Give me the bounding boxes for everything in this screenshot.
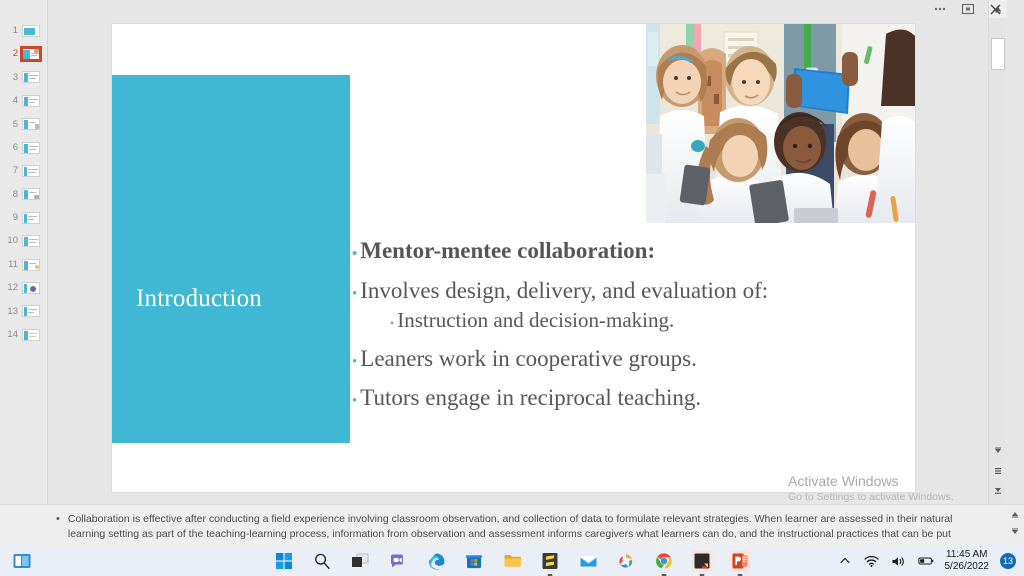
- watermark-subtitle: Go to Settings to activate Windows.: [788, 491, 988, 503]
- wifi-icon: [864, 554, 879, 568]
- scrollbar-thumb[interactable]: [991, 38, 1005, 70]
- envelope-icon: [579, 552, 598, 570]
- bullet-item: • Involves design, delivery, and evaluat…: [352, 278, 912, 305]
- show-hidden-icons-button[interactable]: [837, 553, 853, 569]
- chevron-down-icon: [1011, 528, 1019, 536]
- window-controls[interactable]: [933, 0, 1002, 18]
- battery-icon: [918, 555, 934, 567]
- bullet-dot-icon: •: [352, 394, 357, 409]
- slide-body-bullets[interactable]: • Mentor-mentee collaboration: • Involve…: [352, 238, 912, 419]
- section-marker-button[interactable]: [989, 462, 1007, 480]
- bullet-dot-icon: •: [390, 317, 394, 329]
- notes-scroll-up-button[interactable]: [1006, 505, 1024, 523]
- bullet-text: Tutors engage in reciprocal teaching.: [360, 385, 701, 412]
- notes-pane[interactable]: • Collaboration is effective after condu…: [0, 504, 1024, 546]
- slide-thumb-preview[interactable]: [22, 71, 40, 83]
- slide-number: 5: [4, 120, 18, 130]
- next-slide-button[interactable]: [989, 482, 1007, 500]
- slide-thumbnail-11[interactable]: 11: [0, 253, 47, 276]
- restore-window-icon: [961, 2, 975, 16]
- slide-thumb-preview[interactable]: [22, 329, 40, 341]
- clock-time: 11:45 AM: [945, 549, 990, 561]
- double-bar-icon: [994, 467, 1002, 475]
- notes-bullet-icon: •: [56, 512, 60, 526]
- windows-logo-icon: [275, 552, 293, 570]
- slide-number: 11: [4, 260, 18, 270]
- notification-badge[interactable]: 13: [1000, 553, 1016, 569]
- slide-thumbnail-7[interactable]: 7: [0, 159, 47, 182]
- wifi-button[interactable]: [864, 553, 880, 569]
- slide-thumb-preview[interactable]: [22, 188, 40, 200]
- microsoft-powerpoint-icon: [731, 552, 749, 570]
- slide-vertical-scrollbar[interactable]: [988, 0, 1006, 504]
- bullet-dot-icon: •: [352, 287, 357, 302]
- close-icon: [989, 3, 1002, 16]
- slide-thumbnail-14[interactable]: 14: [0, 323, 47, 346]
- bullet-text: Mentor-mentee collaboration:: [360, 238, 655, 265]
- task-view-squares-icon: [351, 552, 369, 570]
- notes-scroll-down-button[interactable]: [1006, 523, 1024, 541]
- slide-canvas-area[interactable]: Introduction: [48, 0, 1006, 504]
- dark-app-icon[interactable]: [691, 550, 713, 572]
- volume-icon: [891, 555, 906, 568]
- slide-number: 13: [4, 307, 18, 317]
- sublime-text-app-icon: [541, 552, 559, 570]
- slide-thumbnail-2[interactable]: 2: [0, 42, 47, 65]
- google-chrome-icon: [655, 552, 673, 570]
- title-accent-block[interactable]: Introduction: [112, 75, 350, 443]
- sublime-text-icon[interactable]: [539, 550, 561, 572]
- folder-icon: [503, 552, 522, 570]
- slide-thumb-preview[interactable]: [22, 25, 40, 37]
- slide-thumbnail-5[interactable]: 5: [0, 113, 47, 136]
- task-view-icon[interactable]: [349, 550, 371, 572]
- slide-title: Introduction: [136, 285, 262, 313]
- chevron-up-icon: [1011, 510, 1019, 518]
- taskbar-system-tray[interactable]: 11:45 AM 5/26/2022 13: [837, 549, 1017, 573]
- restore-window-button[interactable]: [961, 2, 975, 16]
- slide-thumb-preview[interactable]: [22, 212, 40, 224]
- slide-thumb-preview[interactable]: [22, 95, 40, 107]
- battery-button[interactable]: [918, 553, 934, 569]
- volume-button[interactable]: [891, 553, 907, 569]
- bullet-dot-icon: •: [352, 355, 357, 370]
- notes-text[interactable]: Collaboration is effective after conduct…: [68, 512, 988, 541]
- slide-number: 12: [4, 283, 18, 293]
- mail-icon[interactable]: [577, 550, 599, 572]
- dark-note-app-icon: [693, 552, 711, 570]
- microsoft-store-icon: [465, 552, 483, 570]
- magnifier-icon: [313, 552, 331, 570]
- slide-thumb-preview[interactable]: [22, 259, 40, 271]
- powerpoint-window: 1 2 3: [0, 0, 1024, 576]
- chat-icon[interactable]: [387, 550, 409, 572]
- more-options-button[interactable]: [933, 3, 947, 15]
- bullet-item-sub: • Instruction and decision-making.: [390, 308, 912, 332]
- notes-scrollbar[interactable]: [1006, 505, 1024, 546]
- microsoft-edge-icon: [427, 552, 446, 571]
- slide-thumbnail-4[interactable]: 4: [0, 89, 47, 112]
- bullet-text: Involves design, delivery, and evaluatio…: [360, 278, 768, 305]
- store-icon[interactable]: [463, 550, 485, 572]
- bullet-item: • Tutors engage in reciprocal teaching.: [352, 385, 912, 412]
- slide-thumb-preview[interactable]: [22, 282, 40, 294]
- editor-workspace: 1 2 3: [0, 0, 1024, 504]
- colorful-swirl-icon: [617, 552, 635, 570]
- slide-thumbnail-12[interactable]: 12: [0, 276, 47, 299]
- slide-thumb-preview[interactable]: [22, 235, 40, 247]
- slide-number: 9: [4, 213, 18, 223]
- slide-editing-surface[interactable]: Introduction: [112, 24, 915, 492]
- previous-slide-button[interactable]: [989, 442, 1007, 460]
- classroom-photo-image: [646, 24, 915, 223]
- chevron-up-icon: [839, 555, 851, 567]
- slide-thumbnail-3[interactable]: 3: [0, 66, 47, 89]
- taskbar-clock[interactable]: 11:45 AM 5/26/2022: [945, 549, 990, 573]
- bullet-text: Instruction and decision-making.: [397, 308, 674, 332]
- ellipsis-icon: [933, 3, 947, 15]
- triangle-down-icon: [994, 447, 1002, 455]
- watermark-title: Activate Windows: [788, 472, 988, 491]
- activate-windows-watermark: Activate Windows Go to Settings to activ…: [788, 472, 988, 503]
- windows-taskbar[interactable]: 11:45 AM 5/26/2022 13: [0, 546, 1024, 576]
- slide-thumb-preview[interactable]: [22, 165, 40, 177]
- slide-thumb-preview[interactable]: [22, 142, 40, 154]
- slide-number: 10: [4, 236, 18, 246]
- clock-date: 5/26/2022: [945, 561, 990, 573]
- slide-thumb-preview[interactable]: [22, 118, 40, 130]
- chat-bubble-icon: [389, 552, 407, 570]
- bullet-dot-icon: •: [352, 247, 357, 262]
- slide-thumbnail-10[interactable]: 10: [0, 230, 47, 253]
- file-explorer-icon[interactable]: [501, 550, 523, 572]
- slide-number: 7: [4, 166, 18, 176]
- slide-thumbnail-6[interactable]: 6: [0, 136, 47, 159]
- slide-number: 14: [4, 330, 18, 340]
- start-icon[interactable]: [273, 550, 295, 572]
- close-button[interactable]: [989, 3, 1002, 16]
- powerpoint-icon[interactable]: [729, 550, 751, 572]
- slide-number: 8: [4, 190, 18, 200]
- classroom-photo[interactable]: [646, 24, 915, 223]
- slide-number: 3: [4, 73, 18, 83]
- slide-thumbnail-9[interactable]: 9: [0, 206, 47, 229]
- slide-thumbnail-8[interactable]: 8: [0, 183, 47, 206]
- chrome-icon[interactable]: [653, 550, 675, 572]
- slide-thumbnail-1[interactable]: 1: [0, 19, 47, 42]
- bullet-item: • Mentor-mentee collaboration:: [352, 238, 912, 265]
- notes-content[interactable]: • Collaboration is effective after condu…: [56, 512, 996, 541]
- app-icon[interactable]: [615, 550, 637, 572]
- search-icon[interactable]: [311, 550, 333, 572]
- slide-thumb-preview[interactable]: [22, 305, 40, 317]
- slide-number: 6: [4, 143, 18, 153]
- slide-thumbnail-rail[interactable]: 1 2 3: [0, 0, 48, 504]
- slide-thumbnail-13[interactable]: 13: [0, 300, 47, 323]
- bullet-text: Leaners work in cooperative groups.: [360, 346, 697, 373]
- triangle-down-bar-icon: [994, 487, 1002, 495]
- slide-nav-buttons[interactable]: [989, 442, 1007, 502]
- slide-number: 1: [4, 26, 18, 36]
- slide-number: 4: [4, 96, 18, 106]
- slide-number: 2: [4, 49, 18, 59]
- bullet-item: • Leaners work in cooperative groups.: [352, 346, 912, 373]
- slide-thumb-preview[interactable]: [22, 48, 40, 60]
- edge-icon[interactable]: [425, 550, 447, 572]
